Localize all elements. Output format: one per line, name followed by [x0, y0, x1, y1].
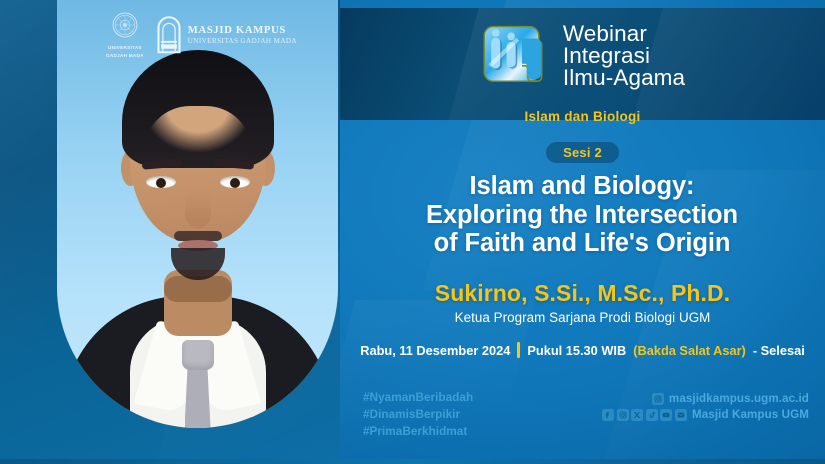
hashtag-item: #PrimaBerkhidmat [363, 424, 473, 439]
social-media-block: masjidkampus.ugm.ac.id [602, 392, 809, 421]
instagram-icon[interactable] [617, 409, 629, 421]
webinar-word-2: Integrasi [563, 45, 685, 67]
ugm-seal-text-line2: GADJAH MADA [106, 53, 144, 59]
mosque-arch-icon [154, 12, 184, 59]
webinar-logo-lockup: Webinar Integrasi Ilmu-Agama [340, 22, 825, 90]
event-date: Rabu, 11 Desember 2024 [360, 343, 510, 358]
event-datetime: Rabu, 11 Desember 2024 Pukul 15.30 WIB (… [340, 342, 825, 358]
website-url[interactable]: masjidkampus.ugm.ac.id [669, 392, 809, 405]
portrait-illustration [57, 0, 338, 428]
masjid-kampus-logo: MASJID KAMPUS UNIVERSITAS GADJAH MADA [154, 12, 297, 59]
wia-monogram-icon [480, 22, 550, 90]
ugm-seal-icon [112, 12, 138, 43]
webinar-word-3: Ilmu-Agama [563, 67, 685, 89]
webinar-wordmark: Webinar Integrasi Ilmu-Agama [563, 23, 685, 90]
session-badge: Sesi 2 [546, 142, 619, 163]
masjid-university: UNIVERSITAS GADJAH MADA [188, 38, 297, 45]
portrait-hair [122, 50, 274, 168]
event-time: Pukul 15.30 WIB [527, 343, 626, 358]
portrait-pupil-right [230, 178, 240, 188]
series-subtitle: Islam dan Biologi [524, 109, 640, 124]
youtube-icon[interactable] [660, 409, 672, 421]
x-twitter-icon[interactable] [631, 409, 643, 421]
speaker-portrait [57, 0, 338, 428]
ugm-seal-logo: UNIVERSITAS GADJAH MADA [106, 12, 144, 58]
institution-logos: UNIVERSITAS GADJAH MADA MASJID KAMPUS UN… [106, 12, 297, 59]
portrait-nose [185, 192, 211, 228]
speaker-name: Sukirno, S.Si., M.Sc., Ph.D. [340, 280, 825, 307]
social-icon-row [602, 409, 687, 421]
hashtag-list: #NyamanBeribadah #DinamisBerpikir #Prima… [363, 390, 473, 439]
webinar-word-1: Webinar [563, 23, 685, 45]
tiktok-icon[interactable] [646, 409, 658, 421]
hashtag-item: #DinamisBerpikir [363, 407, 473, 422]
event-time-suffix: - Selesai [753, 343, 805, 358]
portrait-tie-knot [182, 340, 214, 370]
left-panel: UNIVERSITAS GADJAH MADA MASJID KAMPUS UN… [0, 0, 340, 464]
talk-title-line-1: Islam and Biology: [345, 172, 819, 201]
masjid-logo-text: MASJID KAMPUS UNIVERSITAS GADJAH MADA [188, 26, 297, 45]
masjid-name: MASJID KAMPUS [188, 26, 297, 37]
telegram-icon[interactable] [675, 409, 687, 421]
speaker-role: Ketua Program Sarjana Prodi Biologi UGM [340, 310, 825, 325]
portrait-tie [185, 366, 211, 428]
datetime-separator [517, 342, 520, 358]
ugm-seal-text-line1: UNIVERSITAS [108, 45, 142, 51]
webinar-poster: UNIVERSITAS GADJAH MADA MASJID KAMPUS UN… [0, 0, 825, 464]
portrait-pupil-left [156, 178, 166, 188]
talk-title-line-2: Exploring the Intersection [345, 201, 819, 230]
series-subtitle-strip: Islam dan Biologi [340, 105, 825, 127]
facebook-icon[interactable] [602, 409, 614, 421]
hashtag-item: #NyamanBeribadah [363, 390, 473, 405]
website-line: masjidkampus.ugm.ac.id [652, 392, 809, 405]
social-handle[interactable]: Masjid Kampus UGM [692, 408, 809, 421]
talk-title-line-3: of Faith and Life's Origin [345, 229, 819, 258]
instagram-square-icon [652, 393, 664, 405]
handle-line: Masjid Kampus UGM [602, 408, 809, 421]
bottom-accent-bar [0, 459, 825, 464]
talk-title: Islam and Biology: Exploring the Interse… [345, 172, 819, 258]
event-time-note: (Bakda Salat Asar) [633, 343, 746, 358]
session-badge-wrap: Sesi 2 [340, 142, 825, 163]
webinar-brand-banner: Webinar Integrasi Ilmu-Agama [340, 8, 825, 120]
